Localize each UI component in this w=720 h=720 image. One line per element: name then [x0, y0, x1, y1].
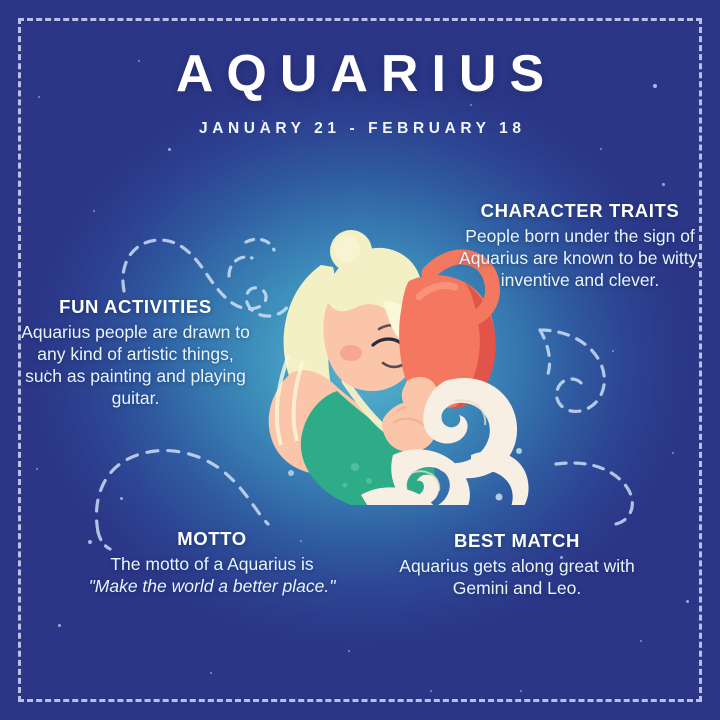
motto-quote: "Make the world a better place."	[62, 575, 362, 597]
section-motto: MOTTO The motto of a Aquarius is "Make t…	[62, 528, 362, 597]
section-best-match: BEST MATCH Aquarius gets along great wit…	[382, 530, 652, 599]
zodiac-poster: AQUARIUS JANUARY 21 - FEBRUARY 18 CHARAC…	[0, 0, 720, 720]
motto-body: The motto of a Aquarius is	[62, 553, 362, 575]
section-character-traits: CHARACTER TRAITS People born under the s…	[455, 200, 705, 291]
page-title: AQUARIUS	[0, 48, 720, 100]
section-fun-activities: FUN ACTIVITIES Aquarius people are drawn…	[18, 296, 253, 409]
fun-activities-heading: FUN ACTIVITIES	[18, 296, 253, 318]
date-range: JANUARY 21 - FEBRUARY 18	[0, 120, 720, 138]
best-match-heading: BEST MATCH	[382, 530, 652, 552]
fun-activities-body: Aquarius people are drawn to any kind of…	[18, 321, 253, 409]
best-match-body: Aquarius gets along great with Gemini an…	[382, 555, 652, 599]
character-traits-heading: CHARACTER TRAITS	[455, 200, 705, 222]
character-traits-body: People born under the sign of Aquarius a…	[455, 225, 705, 291]
poster-header: AQUARIUS JANUARY 21 - FEBRUARY 18	[0, 48, 720, 138]
motto-heading: MOTTO	[62, 528, 362, 550]
